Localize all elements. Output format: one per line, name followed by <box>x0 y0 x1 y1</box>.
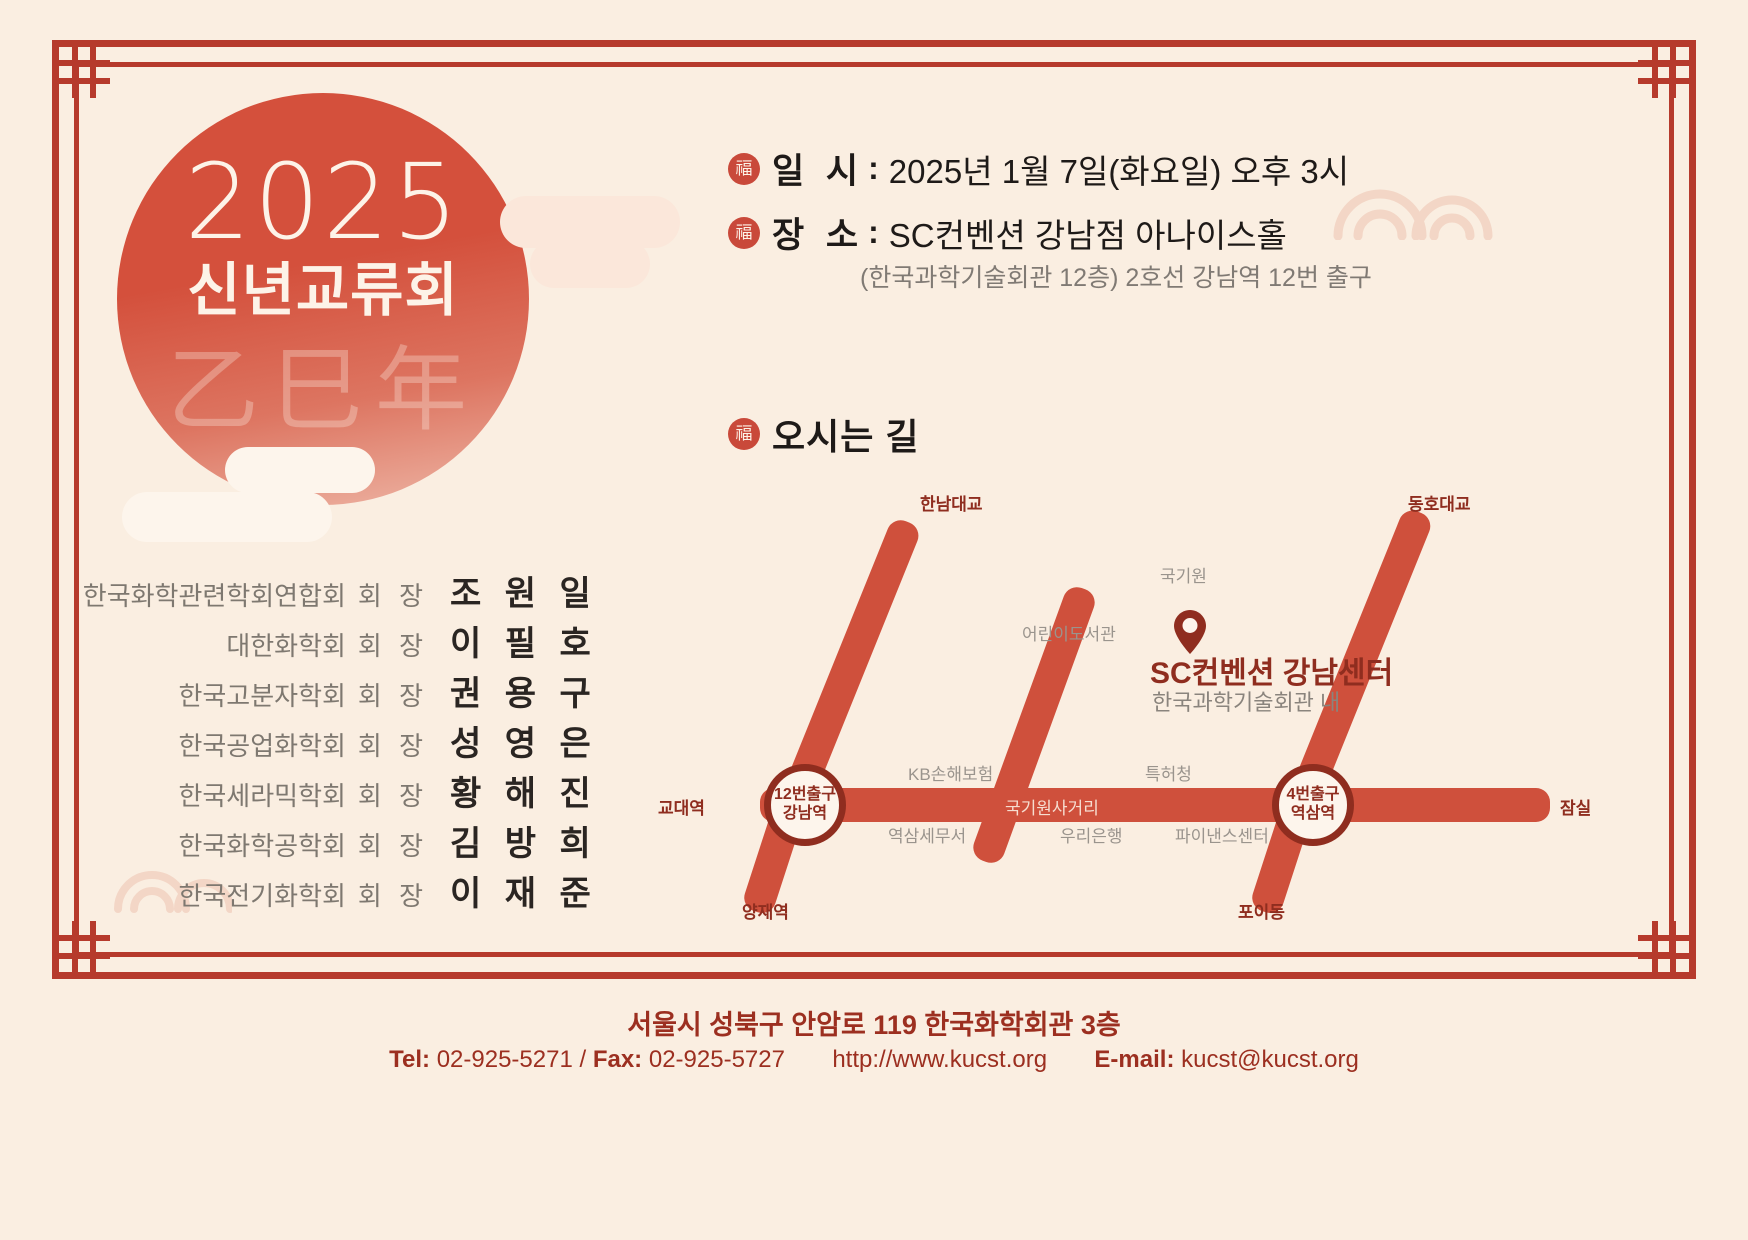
frame-outer-right <box>1689 40 1696 979</box>
map-label-yeoksam-tax-office: 역삼세무서 <box>888 822 966 847</box>
corner-lattice-top-right-icon <box>1638 46 1690 98</box>
president-org: 한국고분자학회 <box>178 676 345 713</box>
arc-decoration-top-right-icon <box>1330 170 1500 240</box>
hero-hanja-text: 乙巳年 <box>117 345 529 437</box>
map-label-woori-bank: 우리은행 <box>1060 822 1123 847</box>
place-value: SC컨벤션 강남점 아나이스홀 <box>889 209 1287 257</box>
fax-value: 02-925-5727 <box>649 1046 785 1073</box>
bok-badge-icon: 福 <box>728 217 760 249</box>
president-row: 한국세라믹학회 회 장 황 해 진 <box>110 766 580 816</box>
cloud-decoration-icon <box>225 447 375 493</box>
president-name: 이 필 호 <box>450 616 580 665</box>
website-link[interactable]: http://www.kucst.org <box>832 1046 1047 1073</box>
map-label-jamsil: 잠실 <box>1560 794 1591 819</box>
frame-outer-bottom <box>52 972 1696 979</box>
station-name-label: 강남역 <box>783 805 827 824</box>
frame-outer-top <box>52 40 1696 47</box>
president-org: 한국전기화학회 <box>178 876 345 913</box>
president-name: 이 재 준 <box>450 866 580 915</box>
directions-heading-row: 福 오시는 길 <box>728 408 919 460</box>
map-label-gukgiwon-crossroad: 국기원사거리 <box>1005 794 1099 819</box>
datetime-label: 일 시 <box>772 143 864 194</box>
station-exit-label: 4번출구 <box>1286 786 1339 805</box>
poster-root: 乙巳年 2025 신년교류회 福 일 시 : 2025년 1월 7일(화요일) … <box>0 0 1748 1240</box>
map-station-yeoksam[interactable]: 4번출구 역삼역 <box>1272 764 1354 846</box>
venue-sub-label: 한국과학기술회관 내 <box>1152 685 1340 717</box>
place-label: 장 소 <box>772 207 864 258</box>
president-title: 회 장 <box>358 776 428 813</box>
corner-lattice-bottom-right-icon <box>1638 921 1690 973</box>
corner-lattice-bottom-left-icon <box>58 921 110 973</box>
email-label: E-mail: <box>1094 1046 1174 1073</box>
map-label-dongho-bridge: 동호대교 <box>1408 490 1471 515</box>
location-map: 한남대교 동호대교 국기원 교대역 잠실 양재역 포이동 어린이도서관 KB손해… <box>640 470 1640 960</box>
email-value[interactable]: kucst@kucst.org <box>1181 1046 1359 1073</box>
station-name-label: 역삼역 <box>1291 805 1335 824</box>
map-label-gyodae-station: 교대역 <box>658 794 705 819</box>
president-title: 회 장 <box>358 626 428 663</box>
president-org: 한국공업화학회 <box>178 726 345 763</box>
event-place-row: 福 장 소 : SC컨벤션 강남점 아나이스홀 <box>728 207 1287 258</box>
president-org: 한국화학관련학회연합회 <box>83 576 346 613</box>
hero-title-text: 신년교류회 <box>117 262 529 320</box>
map-label-childrens-library: 어린이도서관 <box>1022 620 1116 645</box>
place-colon: : <box>868 214 879 251</box>
separator-slash: / <box>579 1046 586 1073</box>
map-label-gukgiwon: 국기원 <box>1160 562 1207 587</box>
president-name: 권 용 구 <box>450 666 580 715</box>
place-subtext: (한국과학기술회관 12층) 2호선 강남역 12번 출구 <box>860 258 1372 294</box>
cloud-decoration-icon <box>530 240 650 288</box>
president-name: 김 방 희 <box>450 816 580 865</box>
frame-inner-right <box>1669 62 1674 957</box>
president-org: 한국세라믹학회 <box>178 776 345 813</box>
president-org: 한국화학공학회 <box>178 826 345 863</box>
president-title: 회 장 <box>358 676 428 713</box>
president-list: 한국화학관련학회연합회 회 장 조 원 일 대한화학회 회 장 이 필 호 한국… <box>110 566 580 916</box>
tel-label: Tel: <box>389 1046 430 1073</box>
bok-badge-icon: 福 <box>728 418 760 450</box>
map-station-gangnam[interactable]: 12번출구 강남역 <box>764 764 846 846</box>
president-org: 대한화학회 <box>226 626 346 663</box>
president-title: 회 장 <box>358 576 428 613</box>
hero-year-text: 2025 <box>117 150 529 254</box>
cloud-decoration-icon <box>122 492 332 542</box>
map-label-patent-office: 특허청 <box>1145 760 1192 785</box>
president-title: 회 장 <box>358 826 428 863</box>
datetime-value: 2025년 1월 7일(화요일) 오후 3시 <box>889 145 1349 193</box>
frame-inner-top <box>74 62 1674 67</box>
station-exit-label: 12번출구 <box>774 786 836 805</box>
frame-inner-left <box>74 62 79 957</box>
event-datetime-row: 福 일 시 : 2025년 1월 7일(화요일) 오후 3시 <box>728 143 1349 194</box>
president-title: 회 장 <box>358 876 428 913</box>
map-label-hannam-bridge: 한남대교 <box>920 490 983 515</box>
president-title: 회 장 <box>358 726 428 763</box>
president-row: 한국화학관련학회연합회 회 장 조 원 일 <box>110 566 580 616</box>
frame-outer-left <box>52 40 59 979</box>
bok-badge-icon: 福 <box>728 153 760 185</box>
map-label-yangjae-station: 양재역 <box>742 898 789 923</box>
directions-title: 오시는 길 <box>772 408 919 460</box>
president-name: 조 원 일 <box>450 566 580 615</box>
fax-label: Fax: <box>593 1046 642 1073</box>
president-name: 황 해 진 <box>450 766 580 815</box>
map-label-poidong: 포이동 <box>1238 898 1285 923</box>
tel-value: 02-925-5271 <box>437 1046 573 1073</box>
footer-address: 서울시 성북구 안암로 119 한국화학회관 3층 <box>0 1003 1748 1042</box>
datetime-colon: : <box>868 150 879 187</box>
map-label-kb-insurance: KB손해보험 <box>908 760 993 785</box>
president-row: 대한화학회 회 장 이 필 호 <box>110 616 580 666</box>
footer-contact: Tel: 02-925-5271 / Fax: 02-925-5727 http… <box>0 1046 1748 1074</box>
president-row: 한국전기화학회 회 장 이 재 준 <box>110 866 580 916</box>
president-row: 한국고분자학회 회 장 권 용 구 <box>110 666 580 716</box>
president-row: 한국화학공학회 회 장 김 방 희 <box>110 816 580 866</box>
road-horizontal-main <box>760 788 1550 822</box>
map-label-finance-center: 파이낸스센터 <box>1175 822 1269 847</box>
corner-lattice-top-left-icon <box>58 46 110 98</box>
president-name: 성 영 은 <box>450 716 580 765</box>
president-row: 한국공업화학회 회 장 성 영 은 <box>110 716 580 766</box>
